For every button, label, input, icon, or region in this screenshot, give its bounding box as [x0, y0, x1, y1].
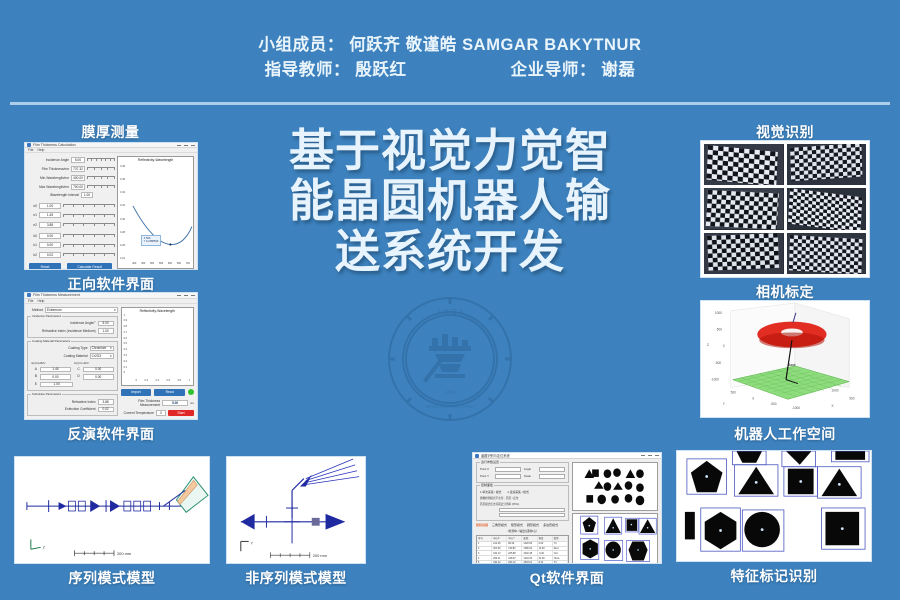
- cell: 4: [477, 556, 492, 560]
- plot-datatip: X 566 Y 0.2488536: [141, 235, 162, 246]
- coeff-label: k1: [27, 243, 37, 247]
- cell: -5.20: [538, 551, 553, 555]
- param-label: Min Wavelength/nm: [27, 176, 69, 180]
- app-icon: [475, 454, 479, 458]
- coeff-slider[interactable]: [63, 242, 114, 249]
- qt-subtitle: （检测中 / 输出识别中心）: [476, 529, 569, 533]
- checkerboard-image: [704, 144, 784, 185]
- checkerboard-image: [704, 233, 784, 274]
- group-coating: Coating Material Parameters Coating Type…: [27, 341, 118, 392]
- caption-feature-marker: 特征标记识别: [676, 566, 872, 586]
- svg-text:-500: -500: [715, 361, 722, 365]
- tab-shape-detect[interactable]: 形状识别: [476, 523, 488, 527]
- panel-camera-calibration[interactable]: [700, 140, 870, 278]
- panel-robot-workspace[interactable]: Base 10005000 -500-1000 Z 5000 -500-1000…: [700, 300, 870, 418]
- coating-material-select[interactable]: Cr2O3 ▾: [90, 353, 114, 359]
- svg-text:Base: Base: [788, 363, 796, 367]
- cell: 256.41: [492, 556, 507, 560]
- field-row: Refractive Index (Incidence Medium) 1.00: [31, 328, 114, 334]
- param-slider[interactable]: [87, 165, 114, 172]
- team-members-line: 小组成员： 何跃齐 敬谨皓 SAMGAR BAKYTNUR: [0, 34, 900, 57]
- point-x-input[interactable]: [495, 467, 521, 472]
- svg-text:500: 500: [731, 390, 737, 394]
- reset-button[interactable]: Reset: [29, 263, 61, 270]
- table-row[interactable]: 5 340.22 284.10 1503.61 8.44 Tri: [477, 561, 568, 564]
- cell: 248.07: [507, 556, 522, 560]
- cell: 205.88: [507, 551, 522, 555]
- coeff-value[interactable]: 1.00: [40, 382, 73, 388]
- coeff-label: n1: [27, 213, 37, 217]
- field-label: Refractive Index: [31, 400, 96, 404]
- coeff-slider[interactable]: [63, 221, 114, 228]
- method-label: Method: [27, 308, 43, 312]
- cell: 1632.48: [522, 551, 537, 555]
- cell: 1420.50: [522, 542, 537, 546]
- x-tick: 0.8: [178, 379, 181, 382]
- param-row: Incidence Angle 5.00: [27, 156, 114, 163]
- x-tick: 400: [132, 262, 136, 265]
- non-sequential-optical-layout: Y 200 mm: [227, 457, 365, 563]
- qt-group-params: 运行参数设置 Point X Angle Point Y Scale: [476, 462, 569, 483]
- checkerboard-image: [787, 233, 867, 274]
- coeff-slider[interactable]: [63, 232, 114, 239]
- coeff-label: n0: [27, 204, 37, 208]
- svg-text:500: 500: [717, 327, 723, 331]
- x-tick: 0.4: [156, 379, 159, 382]
- chevron-down-icon[interactable]: ▾: [114, 308, 116, 312]
- y-tick: 0: [124, 371, 127, 374]
- forward-window-title: Film Thickness Calculation: [33, 143, 76, 147]
- coeff-label: k2: [27, 253, 37, 257]
- cell: 340.22: [492, 561, 507, 564]
- param-value[interactable]: 1.00: [81, 192, 93, 198]
- menu-file[interactable]: File: [28, 148, 33, 152]
- x-tick: 0.6: [167, 379, 170, 382]
- plot-x-axis: 400 450 500 550 600 650 700: [132, 262, 190, 265]
- qt-left-pane: 运行参数设置 Point X Angle Point Y Scale: [476, 462, 569, 564]
- group-title: Substrate Parameters: [31, 392, 62, 396]
- y-tick: 0.1: [124, 366, 127, 369]
- y-tick: 1: [124, 314, 127, 317]
- svg-text:1000: 1000: [715, 311, 722, 315]
- radio-row: 1.单次采集 / 模式 2.连续采集 / 模式: [480, 490, 565, 494]
- panel-forward-ui[interactable]: Film Thickness Calculation File Help Inc…: [24, 142, 198, 270]
- coeff-label: k0: [27, 234, 37, 238]
- calculate-button[interactable]: Calculate Result: [67, 263, 112, 270]
- cell: 1380.20: [522, 547, 537, 551]
- field-label: Coating Type: [31, 346, 88, 350]
- param-slider[interactable]: [87, 156, 114, 163]
- maximize-icon[interactable]: [184, 295, 188, 296]
- field-label: Refractive Index (Incidence Medium): [31, 329, 96, 333]
- coeff-value[interactable]: 0.02: [39, 252, 61, 258]
- coeff-label: D: [74, 374, 80, 380]
- field-row: Extinction Coefficient 0.02: [31, 407, 114, 413]
- scale-input[interactable]: [539, 474, 565, 479]
- output-input[interactable]: [499, 513, 565, 517]
- menu-file[interactable]: File: [28, 299, 33, 303]
- group-title: 控制面板: [480, 483, 494, 487]
- tab-rect[interactable]: 矩形模式: [511, 523, 523, 527]
- temp-value: 0: [156, 410, 166, 416]
- svg-text:0: 0: [752, 396, 754, 400]
- maximize-icon[interactable]: [184, 145, 188, 146]
- y-tick: 0.2: [124, 360, 127, 363]
- caption-forward-ui: 正向软件界面: [24, 274, 198, 294]
- title-line-3: 送系统开发: [248, 227, 652, 277]
- param-value[interactable]: 5.00: [71, 157, 85, 163]
- cell: 3: [477, 551, 492, 555]
- svg-text:上 海 交 大: 上 海 交 大: [436, 308, 465, 316]
- y-tick: 0.3: [124, 354, 127, 357]
- header-divider: [10, 102, 890, 105]
- cell: 5: [477, 561, 492, 564]
- feature-marker-view: [677, 451, 871, 561]
- close-icon[interactable]: [655, 455, 659, 456]
- forward-action-bar: Reset Calculate Result: [27, 263, 114, 270]
- coeff-row: B 0.00 D 0.00: [31, 374, 114, 380]
- minimize-icon[interactable]: [177, 145, 181, 146]
- param-row: Min Wavelength/nm 400.00: [27, 174, 114, 181]
- cell: 124.48: [492, 542, 507, 546]
- coeff-value[interactable]: 0.00: [40, 374, 71, 380]
- caption-non-sequential-model: 非序列模式模型: [216, 568, 376, 588]
- caption-inverse-ui: 反演软件界面: [24, 424, 198, 444]
- import-button[interactable]: Import: [121, 389, 152, 396]
- angle-input[interactable]: [539, 467, 565, 472]
- cell: 301.66: [492, 547, 507, 551]
- y-tick: 0.7: [124, 331, 127, 334]
- x-tick: 450: [141, 262, 145, 265]
- field-value[interactable]: 3.88: [98, 399, 114, 405]
- section-label-vision-recognition: 视觉识别: [700, 122, 870, 142]
- coeff-row: k2 0.02: [27, 251, 114, 258]
- qt-group-control: 控制面板 1.单次采集 / 模式 2.连续采集 / 模式 图像检测模式不支持：匹…: [476, 485, 569, 521]
- note-line: 图像检测模式不支持：匹配 / 定位: [480, 496, 565, 500]
- field-label: Coating Material: [31, 354, 88, 358]
- svg-text:Z: Z: [707, 343, 709, 347]
- group-title: 运行参数设置: [480, 460, 500, 464]
- param-row: Max Wavelength/nm 700.00: [27, 183, 114, 190]
- menu-help[interactable]: Help: [37, 148, 44, 152]
- svg-text:-1000: -1000: [792, 406, 800, 410]
- qt-field-row: Point Y Scale: [480, 474, 565, 479]
- tab-triangle[interactable]: 三角形模式: [492, 523, 507, 527]
- group-title: Coating Material Parameters: [31, 339, 71, 343]
- panel-qt-ui[interactable]: 晶圆识别与定位系统 运行参数设置 Point X Angle: [472, 452, 662, 564]
- x-tick: 0: [136, 379, 137, 382]
- coeff-value[interactable]: 3.88: [39, 222, 61, 228]
- close-icon[interactable]: [191, 295, 195, 296]
- svg-text:0: 0: [723, 344, 725, 348]
- minimize-icon[interactable]: [177, 295, 181, 296]
- col-area: 面积: [522, 536, 537, 541]
- field-label: Point X: [480, 467, 492, 472]
- forward-controls: Incidence Angle 5.00 Film Thickness/nm 7…: [25, 153, 116, 270]
- coeff-row: n0 1.00: [27, 202, 114, 209]
- coeff-label: B: [31, 374, 37, 380]
- param-row: Film Thickness/nm 737.32: [27, 165, 114, 172]
- x-tick: 600: [168, 262, 172, 265]
- temperature-row: Current Temperature 0 Start: [121, 410, 194, 417]
- cell: 139.52: [507, 547, 522, 551]
- cell: 12.60: [538, 547, 553, 551]
- inverse-app-window: Film Thickness Measurement File Help Met…: [25, 293, 197, 419]
- close-icon[interactable]: [191, 145, 195, 146]
- coeff-row: E 1.00: [31, 382, 114, 388]
- param-value[interactable]: 400.00: [71, 175, 85, 181]
- field-row: Refractive Index 3.88: [31, 399, 114, 405]
- field-row: Coating Type Chromium ▾: [31, 346, 114, 352]
- qt-field-row: [480, 513, 565, 517]
- sequential-optical-layout: Z 200 mm: [15, 457, 209, 563]
- qt-window-title: 晶圆识别与定位系统: [481, 453, 510, 458]
- coeff-value[interactable]: 0.00: [39, 242, 61, 248]
- coeff-label: E: [31, 382, 37, 388]
- group-title: Incidence Parameters: [31, 314, 62, 318]
- cell: 8.44: [538, 561, 553, 564]
- param-value[interactable]: 737.32: [71, 166, 85, 172]
- y-tick: 0.4: [124, 348, 127, 351]
- coeff-label: n2: [27, 223, 37, 227]
- field-row: Incidence Angle/° 5.00: [31, 321, 114, 327]
- cell: 31.00: [538, 556, 553, 560]
- plot-x-axis: 0 0.2 0.4 0.6 0.8 1: [136, 379, 190, 382]
- university-seal-watermark: 上 海 交 大 1896 SHANGHAI JIAO TONG: [385, 294, 515, 424]
- formula-n: n(λ)=A+B/λ²: [31, 362, 70, 365]
- field-label: Incidence Angle/°: [31, 321, 96, 325]
- coating-type-select[interactable]: Chromium ▾: [90, 346, 114, 352]
- cell: Circ: [553, 551, 568, 555]
- field-value[interactable]: 0.02: [98, 407, 114, 413]
- cell: 182.13: [492, 551, 507, 555]
- coeff-value[interactable]: 0.00: [83, 374, 114, 380]
- field-value[interactable]: 1.00: [98, 328, 114, 334]
- coeff-label: A: [31, 367, 37, 373]
- result-value: 5.00: [162, 400, 188, 406]
- param-row: Wavelength Interval 1.00: [27, 192, 114, 198]
- coeff-row: n2 3.88: [27, 221, 114, 228]
- cell: Rect: [553, 547, 568, 551]
- plot-curve: [118, 157, 193, 268]
- plot-y-axis: 1 0.9 0.8 0.7 0.6 0.5 0.4 0.3 0.2 0.1 0: [124, 314, 127, 375]
- datatip-y: Y 0.2488536: [144, 240, 159, 243]
- x-tick: 0.2: [145, 379, 148, 382]
- cell: 1204.33: [522, 556, 537, 560]
- col-type: 类型: [553, 536, 568, 541]
- formula-k: k(λ)=C+D/λ²: [74, 362, 113, 365]
- coeff-value[interactable]: 0.00: [83, 367, 114, 373]
- qt-field-row: [480, 508, 565, 512]
- coeff-value[interactable]: 1.00: [39, 203, 61, 209]
- result-unit: nm: [190, 401, 194, 405]
- checkerboard-image: [787, 144, 867, 185]
- radio-continuous[interactable]: 2.连续采集 / 模式: [507, 490, 528, 494]
- y-tick: 0.8: [124, 325, 127, 328]
- coeff-row: k0 0.00: [27, 232, 114, 239]
- y-tick: 0.9: [124, 319, 127, 322]
- coeff-row: k1 0.00: [27, 242, 114, 249]
- read-button[interactable]: Read: [154, 389, 185, 396]
- param-slider[interactable]: [87, 183, 114, 190]
- point-y-input[interactable]: [495, 474, 521, 479]
- col-angle: 角度: [538, 536, 553, 541]
- method-select[interactable]: Extremum ▾: [45, 307, 118, 313]
- group-substrate: Substrate Parameters Refractive Index 3.…: [27, 394, 118, 416]
- field-value: Cr2O3: [92, 354, 101, 358]
- param-value[interactable]: 700.00: [71, 184, 85, 190]
- panel-feature-marker[interactable]: [676, 450, 872, 562]
- col-center-y: 中心Y: [507, 536, 522, 541]
- result-row: Film Thickness Measurement 5.00 nm: [121, 399, 194, 407]
- svg-text:SHANGHAI JIAO TONG: SHANGHAI JIAO TONG: [426, 404, 476, 409]
- method-row: Method Extremum ▾: [27, 307, 118, 313]
- tab-polygon[interactable]: 多边形模式: [543, 523, 558, 527]
- poster-root: 小组成员： 何跃齐 敬谨皓 SAMGAR BAKYTNUR 指导教师： 殷跃红 …: [0, 0, 900, 600]
- cell: 284.10: [507, 561, 522, 564]
- cell: 1: [477, 542, 492, 546]
- qt-field-row: Point X Angle: [480, 467, 565, 472]
- coeff-slider[interactable]: [63, 251, 114, 258]
- start-button[interactable]: Start: [168, 410, 194, 417]
- shape-detection-view[interactable]: [572, 462, 658, 511]
- coeff-label: C: [74, 367, 80, 373]
- cell: 2: [477, 547, 492, 551]
- app-icon: [27, 143, 31, 147]
- param-slider[interactable]: [87, 174, 114, 181]
- reflectivity-plot[interactable]: Reflectivity-Wavelength 0.38 0.36 0.34 0…: [117, 156, 194, 269]
- qt-tab-bar[interactable]: 形状识别 三角形模式 矩形模式 圆形模式 多边形模式: [476, 523, 569, 527]
- x-tick: 500: [150, 262, 154, 265]
- y-tick: 0.5: [124, 342, 127, 345]
- academic-advisor: 指导教师： 殷跃红: [265, 59, 407, 82]
- param-label: Wavelength Interval: [27, 193, 79, 197]
- cell: Tri: [553, 561, 568, 564]
- coeff-row: A 1.45 C 0.00: [31, 367, 114, 373]
- field-value[interactable]: 5.00: [98, 321, 114, 327]
- company-advisor: 企业导师： 谢磊: [511, 59, 636, 82]
- inverse-controls: Method Extremum ▾ Incidence Parameters I…: [25, 304, 120, 420]
- coeff-value[interactable]: 1.45: [39, 212, 61, 218]
- x-tick: 700: [186, 262, 190, 265]
- coeff-slider[interactable]: [63, 202, 114, 209]
- window-controls[interactable]: [177, 295, 195, 296]
- shape-detection-result-view[interactable]: [572, 513, 658, 564]
- caption-qt-ui: Qt软件界面: [472, 568, 662, 588]
- group-incidence: Incidence Parameters Incidence Angle/° 5…: [27, 316, 118, 338]
- field-label: Scale: [524, 474, 536, 479]
- svg-text:500: 500: [849, 396, 855, 400]
- cell: 1503.61: [522, 561, 537, 564]
- caption-robot-workspace: 机器人工作空间: [700, 424, 870, 444]
- axis-label: Z: [43, 545, 45, 549]
- cell: Hexa: [553, 556, 568, 560]
- svg-text:1000: 1000: [831, 388, 838, 392]
- coeff-value[interactable]: 1.45: [40, 367, 71, 373]
- qt-right-pane: 保存 清空 导出 识别结果已写入本地文件: [572, 462, 658, 564]
- cell: 0.00: [538, 542, 553, 546]
- field-value: Chromium: [92, 346, 107, 350]
- coefficient-list: n0 1.00 n1 1.45: [27, 202, 114, 258]
- col-center-x: 中心X: [492, 536, 507, 541]
- calibration-image-grid: [701, 141, 869, 277]
- panel-sequential-model[interactable]: Z 200 mm: [14, 456, 210, 564]
- field-label: Angle: [524, 467, 536, 472]
- window-controls[interactable]: [641, 455, 659, 456]
- field-label: Extinction Coefficient: [31, 407, 96, 411]
- col-index: 序号: [477, 536, 492, 541]
- menu-help[interactable]: Help: [37, 299, 44, 303]
- inverse-action-bar: Import Read: [121, 389, 194, 396]
- svg-text:200 mm: 200 mm: [313, 553, 328, 558]
- tab-circle[interactable]: 圆形模式: [527, 523, 539, 527]
- y-tick: 0.6: [124, 337, 127, 340]
- section-label-film-thickness: 膜厚测量: [28, 122, 193, 142]
- caption-sequential-model: 序列模式模型: [14, 568, 210, 588]
- x-tick: 550: [159, 262, 163, 265]
- inverse-window-title: Film Thickness Measurement: [33, 293, 80, 297]
- svg-text:-500: -500: [770, 402, 777, 406]
- title-line-1: 基于视觉力觉智: [248, 126, 652, 176]
- coeff-slider[interactable]: [63, 212, 114, 219]
- formula-row: n(λ)=A+B/λ² k(λ)=C+D/λ²: [31, 362, 114, 365]
- forward-app-window: Film Thickness Calculation File Help Inc…: [25, 143, 197, 269]
- poster-title: 基于视觉力觉智 能晶圆机器人输 送系统开发: [248, 126, 652, 277]
- coeff-row: n1 1.45: [27, 212, 114, 219]
- workspace-plot: Base 10005000 -500-1000 Z 5000 -500-1000…: [701, 301, 869, 417]
- status-indicator-icon: [188, 389, 194, 395]
- x-tick: 650: [177, 262, 181, 265]
- param-label: Film Thickness/nm: [27, 167, 69, 171]
- radio-single[interactable]: 1.单次采集 / 模式: [480, 490, 501, 494]
- x-tick: 1: [189, 379, 190, 382]
- temp-label: Current Temperature: [121, 411, 154, 415]
- inverse-right-pane: Reflectivity-Wavelength 1 0.9 0.8 0.7 0.…: [120, 304, 197, 420]
- svg-text:1896: 1896: [445, 391, 456, 396]
- checkerboard-image: [704, 188, 784, 229]
- field-row: Coating Material Cr2O3 ▾: [31, 353, 114, 359]
- window-controls[interactable]: [177, 145, 195, 146]
- chevron-down-icon[interactable]: ▾: [110, 346, 112, 350]
- inverse-plot[interactable]: Reflectivity-Wavelength 1 0.9 0.8 0.7 0.…: [121, 307, 194, 386]
- note-line: 匹配模式仅支持固定分辨率 (PNG): [480, 502, 565, 506]
- param-label: Incidence Angle: [27, 158, 69, 162]
- coeff-value[interactable]: 0.00: [39, 233, 61, 239]
- advisors-line: 指导教师： 殷跃红 企业导师： 谢磊: [0, 59, 900, 82]
- app-icon: [27, 293, 31, 297]
- qt-results-table[interactable]: 序号 中心X 中心Y 面积 角度 类型 1 124.48 86.20 1420.…: [476, 535, 569, 564]
- field-label: Point Y: [480, 474, 492, 479]
- cell: 86.20: [507, 542, 522, 546]
- cell: Tri: [553, 542, 568, 546]
- panel-inverse-ui[interactable]: Film Thickness Measurement File Help Met…: [24, 292, 198, 420]
- poster-header: 小组成员： 何跃齐 敬谨皓 SAMGAR BAKYTNUR 指导教师： 殷跃红 …: [0, 34, 900, 82]
- minimize-icon[interactable]: [641, 455, 645, 456]
- result-label: Film Thickness Measurement: [121, 399, 161, 407]
- caption-camera-calibration: 相机标定: [700, 282, 870, 302]
- path-input[interactable]: [499, 508, 565, 512]
- checkerboard-image: [787, 188, 867, 229]
- maximize-icon[interactable]: [648, 455, 652, 456]
- chevron-down-icon[interactable]: ▾: [110, 354, 112, 358]
- forward-plot-wrap: Reflectivity-Wavelength 0.38 0.36 0.34 0…: [116, 153, 197, 270]
- qt-app-window: 晶圆识别与定位系统 运行参数设置 Point X Angle: [473, 453, 661, 563]
- param-label: Max Wavelength/nm: [27, 185, 69, 189]
- svg-text:200 mm: 200 mm: [117, 551, 132, 556]
- svg-text:-1000: -1000: [711, 378, 719, 382]
- panel-non-sequential-model[interactable]: Y 200 mm: [226, 456, 366, 564]
- title-line-2: 能晶圆机器人输: [248, 176, 652, 226]
